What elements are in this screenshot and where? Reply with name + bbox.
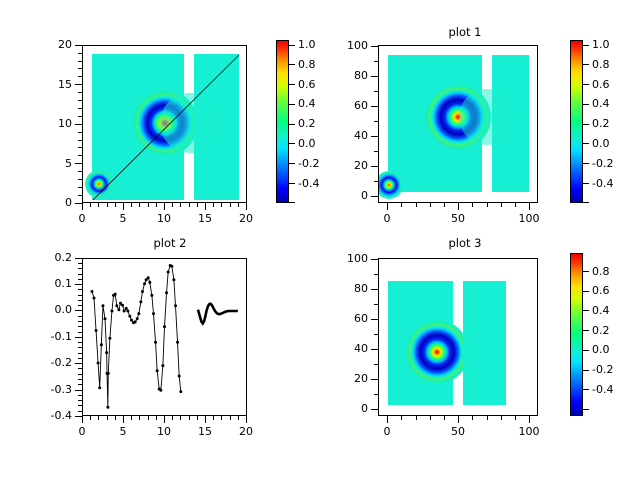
colorbar-tick-label: 0.2 (592, 324, 610, 337)
colorbar-tick-label: 0.0 (592, 137, 610, 150)
data-point-marker (136, 317, 139, 320)
data-point-marker (134, 320, 137, 323)
ytick-label: 20 (40, 38, 72, 51)
colorbar-gradient (277, 41, 288, 202)
xtick-major (123, 416, 124, 423)
ytick-major (75, 310, 82, 311)
xtick-label: 10 (150, 212, 178, 225)
data-point-marker (179, 390, 182, 393)
xtick-label: 100 (511, 425, 547, 438)
data-point-marker (107, 372, 110, 375)
data-point-marker (121, 304, 124, 307)
colorbar-tick-label: 0.0 (592, 343, 610, 356)
xtick-label: 5 (109, 212, 137, 225)
data-point-marker (156, 369, 159, 372)
ytick-label: 20 (330, 159, 368, 172)
colorbar-tick-label: -0.4 (592, 177, 613, 190)
data-point-marker (159, 389, 162, 392)
data-point-marker (147, 276, 150, 279)
data-point-marker (174, 304, 177, 307)
ytick-label: 40 (330, 129, 368, 142)
xtick-major (164, 203, 165, 210)
xtick-label: 0 (373, 425, 401, 438)
xtick-major (82, 203, 83, 210)
data-point-marker (110, 310, 113, 313)
data-point-marker (130, 319, 133, 322)
colorbar-tick-label: 0.4 (592, 97, 610, 110)
colorbar-tick-label: -0.4 (298, 177, 319, 190)
ytick-major (371, 409, 378, 410)
data-point-marker (143, 282, 146, 285)
data-point-marker (165, 291, 168, 294)
ytick-label: 80 (330, 282, 368, 295)
data-point-marker (95, 329, 98, 332)
ytick-label: 60 (330, 312, 368, 325)
data-point-marker (114, 293, 117, 296)
data-point-marker (154, 341, 157, 344)
data-point-marker (170, 265, 173, 268)
data-point-marker (139, 300, 142, 303)
data-point-marker (105, 351, 108, 354)
data-point-marker (161, 364, 164, 367)
data-point-marker (167, 271, 170, 274)
ytick-label: 0 (330, 189, 368, 202)
data-point-marker (172, 278, 175, 281)
ytick-major (75, 416, 82, 417)
ytick-major (75, 124, 82, 125)
axes-bottom-left[interactable] (82, 258, 247, 416)
data-point-marker (152, 312, 155, 315)
colorbar-tick-label: 0.2 (592, 117, 610, 130)
colorbar-tick-label: 0.8 (592, 58, 610, 71)
xtick-label: 15 (191, 212, 219, 225)
colorbar-tick-label: 0.6 (298, 78, 316, 91)
data-point-marker (106, 406, 109, 409)
colorbar-tick-label: 0.8 (592, 265, 610, 278)
xtick-major (82, 416, 83, 423)
xtick-major (246, 416, 247, 423)
heatmap-bottom-right (379, 259, 537, 415)
line-series (90, 264, 182, 409)
xtick-label: 0 (68, 212, 96, 225)
xtick-label: 15 (191, 425, 219, 438)
data-point-marker (108, 337, 111, 340)
ytick-label: 60 (330, 99, 368, 112)
image-patch-right (463, 281, 506, 405)
ytick-label: 5 (40, 157, 72, 170)
colorbar-top-right[interactable] (570, 40, 583, 203)
data-point-marker (176, 341, 179, 344)
colorbar-tick-label: 1.0 (592, 38, 610, 51)
xtick-major (387, 416, 388, 423)
colorbar-tick-label: 0.6 (592, 78, 610, 91)
ytick-label: -0.1 (32, 330, 72, 343)
xtick-major (529, 203, 530, 210)
colorbar-tick-label: 0.0 (298, 137, 316, 150)
ytick-major (75, 203, 82, 204)
xtick-major (387, 203, 388, 210)
xtick-major (205, 416, 206, 423)
axes-top-right[interactable] (378, 45, 538, 203)
xtick-major (205, 203, 206, 210)
xtick-major (164, 416, 165, 423)
ytick-major (371, 106, 378, 107)
xtick-label: 0 (373, 212, 401, 225)
plot-title-3: plot 3 (375, 236, 555, 250)
data-point-marker (101, 304, 104, 307)
ytick-label: 15 (40, 78, 72, 91)
ytick-major (75, 84, 82, 85)
data-point-marker (137, 312, 140, 315)
lineplot-bottom-left (83, 259, 246, 415)
ytick-label: -0.2 (32, 356, 72, 369)
data-point-marker (97, 362, 100, 365)
colorbar-tick-label: -0.2 (298, 157, 319, 170)
data-point-marker (117, 308, 120, 311)
xtick-label: 50 (444, 425, 472, 438)
data-point-marker (123, 310, 126, 313)
subplot-top-left: 0 5 10 15 20 0 5 10 15 20 (0, 0, 320, 240)
colorbar-tick-label: 0.2 (298, 117, 316, 130)
ytick-label: 0.1 (32, 277, 72, 290)
ytick-major (371, 166, 378, 167)
ytick-major (371, 379, 378, 380)
colorbar-tick-label: -0.2 (592, 157, 613, 170)
ytick-label: 100 (330, 252, 368, 265)
ytick-major (371, 349, 378, 350)
ytick-label: 0.2 (32, 251, 72, 264)
plot-title-1: plot 1 (375, 25, 555, 39)
colorbar-tick-label: 0.6 (592, 284, 610, 297)
xtick-label: 20 (232, 212, 260, 225)
axes-top-left[interactable] (82, 45, 247, 203)
data-point-marker (178, 375, 181, 378)
xtick-label: 50 (444, 212, 472, 225)
ytick-label: 0 (40, 196, 72, 209)
subplot-bottom-left: plot 2 0.2 0.1 (0, 240, 320, 480)
ytick-major (75, 284, 82, 285)
ytick-major (75, 258, 82, 259)
ytick-label: 0 (330, 402, 368, 415)
line-series (198, 304, 238, 324)
ytick-major (371, 289, 378, 290)
data-point-marker (104, 317, 107, 320)
xtick-label: 100 (511, 212, 547, 225)
data-point-marker (93, 297, 96, 300)
colorbar-tick-label: 0.8 (298, 58, 316, 71)
colorbar-gradient (571, 41, 582, 202)
ytick-label: 100 (330, 39, 368, 52)
xtick-label: 0 (68, 425, 96, 438)
ytick-label: -0.3 (32, 383, 72, 396)
ytick-major (75, 337, 82, 338)
colorbar-tick-label: 0.4 (592, 304, 610, 317)
ytick-major (75, 390, 82, 391)
xtick-label: 20 (232, 425, 260, 438)
colorbar-tick-label: -0.2 (592, 363, 613, 376)
ytick-label: 20 (330, 372, 368, 385)
ytick-major (371, 76, 378, 77)
colorbar-tick-label: 1.0 (298, 38, 316, 51)
colorbar-tick-label: -0.4 (592, 383, 613, 396)
xtick-major (529, 416, 530, 423)
xtick-label: 5 (109, 425, 137, 438)
ytick-major (75, 363, 82, 364)
heatmap-top-left (83, 46, 246, 202)
subplot-top-right: plot 1 (320, 0, 640, 240)
data-point-marker (163, 325, 166, 328)
ytick-major (371, 259, 378, 260)
data-point-marker (125, 307, 128, 310)
colorbar-gradient (571, 254, 582, 415)
ytick-label: 10 (40, 117, 72, 130)
data-point-marker (100, 343, 103, 346)
xtick-label: 10 (150, 425, 178, 438)
ytick-label: 40 (330, 342, 368, 355)
data-point-marker (148, 281, 151, 284)
ytick-major (75, 45, 82, 46)
ytick-label: 0.0 (32, 303, 72, 316)
colorbar-tick-label: 0.4 (298, 97, 316, 110)
xtick-major (458, 203, 459, 210)
ytick-major (371, 136, 378, 137)
data-point-marker (126, 310, 129, 313)
data-point-marker (128, 315, 131, 318)
ytick-major (371, 46, 378, 47)
ytick-major (371, 196, 378, 197)
subplot-bottom-right: plot 3 (320, 240, 640, 480)
data-point-marker (115, 304, 118, 307)
data-point-marker (90, 290, 93, 293)
colorbar-bottom-right[interactable] (570, 253, 583, 416)
ytick-label: 80 (330, 69, 368, 82)
xtick-major (123, 203, 124, 210)
ytick-label: -0.4 (32, 409, 72, 422)
ytick-major (371, 319, 378, 320)
xtick-major (458, 416, 459, 423)
ytick-major (75, 163, 82, 164)
figure-canvas: 0 5 10 15 20 0 5 10 15 20 (0, 0, 640, 480)
data-point-marker (98, 386, 101, 389)
colorbar-top-left[interactable] (276, 40, 289, 203)
data-point-marker (150, 294, 153, 297)
heatmap-top-right (379, 46, 537, 202)
plot-title-2: plot 2 (80, 236, 260, 250)
data-point-marker (141, 290, 144, 293)
axes-bottom-right[interactable] (378, 258, 538, 416)
xtick-major (246, 203, 247, 210)
